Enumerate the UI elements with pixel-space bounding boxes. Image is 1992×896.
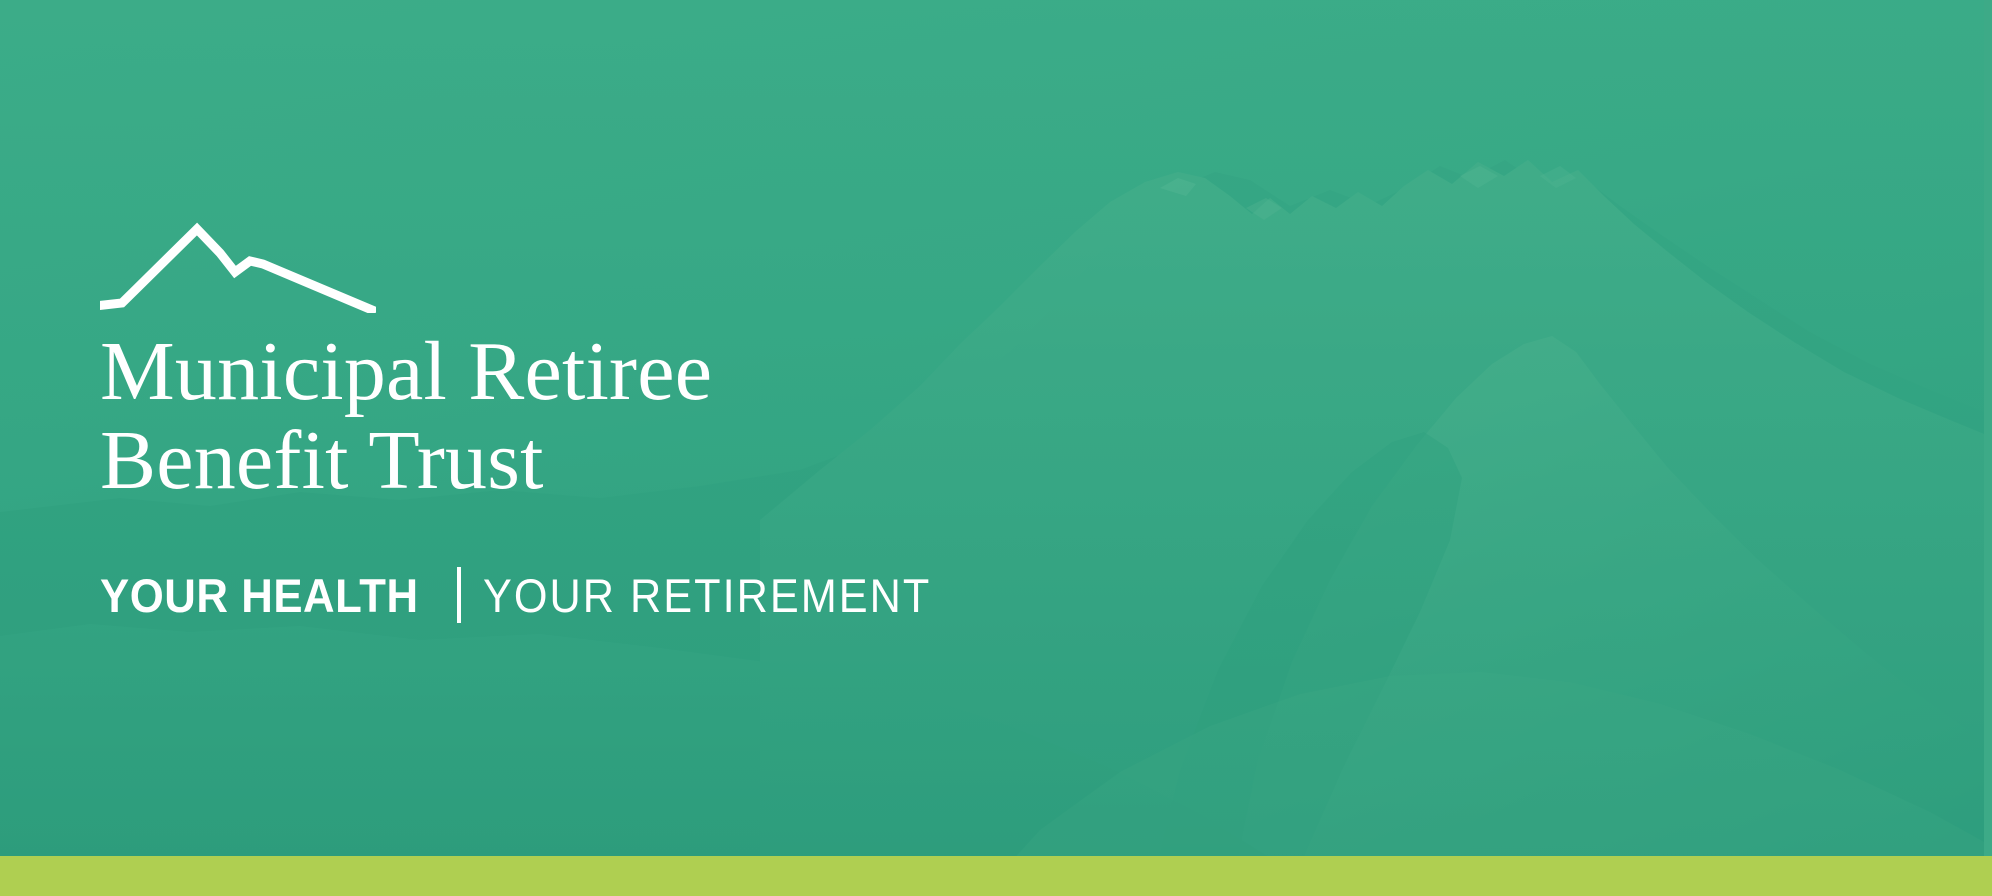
tagline-separator [457, 567, 461, 623]
mountain-peak-icon [100, 215, 376, 313]
accent-bar [0, 856, 1992, 896]
mountain-peak-icon-glyph [100, 215, 376, 313]
page-title: Municipal Retiree Benefit Trust [100, 327, 1200, 505]
tagline-secondary: YOUR RETIREMENT [483, 568, 931, 623]
brand-banner: Municipal Retiree Benefit Trust YOUR HEA… [0, 0, 1992, 896]
wordmark-line-1: Municipal Retiree [100, 325, 712, 418]
right-edge-fill [1984, 0, 1992, 856]
wordmark-line-2: Benefit Trust [100, 416, 1200, 505]
banner-content: Municipal Retiree Benefit Trust YOUR HEA… [100, 215, 1200, 623]
tagline-primary: YOUR HEALTH [100, 568, 419, 623]
tagline: YOUR HEALTH YOUR RETIREMENT [100, 567, 1200, 623]
